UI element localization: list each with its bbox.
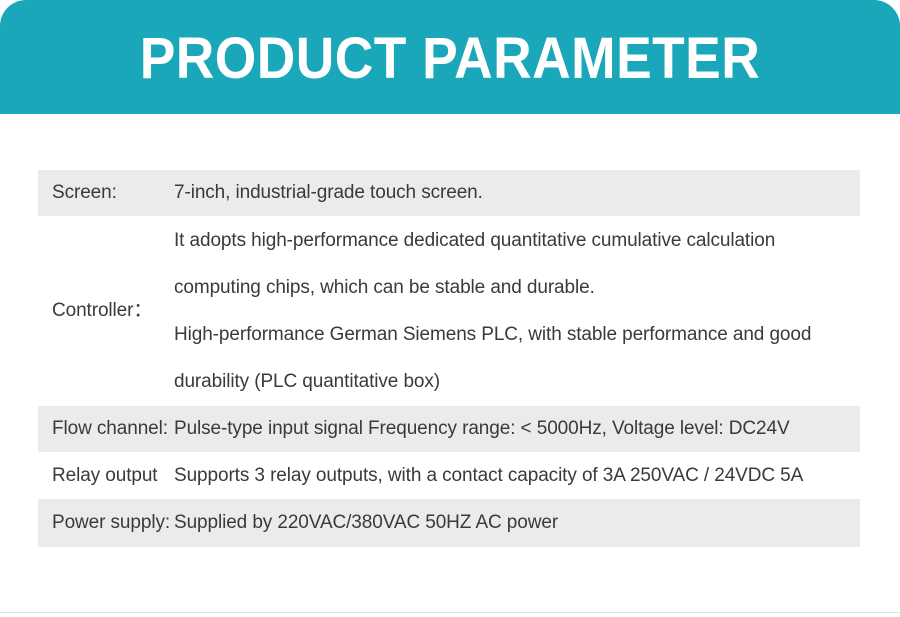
spec-label-power-supply: Power supply: <box>38 499 174 547</box>
spec-value-power-supply: Supplied by 220VAC/380VAC 50HZ AC power <box>174 499 860 547</box>
spec-value-line: Supplied by 220VAC/380VAC 50HZ AC power <box>174 511 860 535</box>
product-parameter-banner: PRODUCT PARAMETER <box>0 0 900 114</box>
table-row: Relay output Supports 3 relay outputs, w… <box>38 452 860 499</box>
spec-value-line: It adopts high-performance dedicated qua… <box>174 217 860 264</box>
bottom-divider <box>0 612 900 613</box>
table-row: Flow channel: Pulse-type input signal Fr… <box>38 406 860 452</box>
page-title: PRODUCT PARAMETER <box>36 28 864 90</box>
spec-value-line: Supports 3 relay outputs, with a contact… <box>174 464 860 488</box>
table-row: Controller： It adopts high-performance d… <box>38 216 860 406</box>
spec-value-line: 7-inch, industrial-grade touch screen. <box>174 181 860 205</box>
spec-label-relay-output: Relay output <box>38 452 174 499</box>
spec-value-line: computing chips, which can be stable and… <box>174 264 860 311</box>
product-parameter-table: Screen: 7-inch, industrial-grade touch s… <box>38 170 860 547</box>
spec-label-flow-channel: Flow channel: <box>38 406 174 452</box>
spec-value-screen: 7-inch, industrial-grade touch screen. <box>174 170 860 216</box>
table-row: Screen: 7-inch, industrial-grade touch s… <box>38 170 860 216</box>
spec-value-controller: It adopts high-performance dedicated qua… <box>174 216 860 406</box>
spec-value-line: High-performance German Siemens PLC, wit… <box>174 311 860 358</box>
spec-value-line: Pulse-type input signal Frequency range:… <box>174 417 860 441</box>
spec-label-controller: Controller： <box>38 216 174 406</box>
table-row: Power supply: Supplied by 220VAC/380VAC … <box>38 499 860 547</box>
spec-label-screen: Screen: <box>38 170 174 216</box>
spec-value-line: durability (PLC quantitative box) <box>174 358 860 405</box>
spec-value-relay-output: Supports 3 relay outputs, with a contact… <box>174 452 860 499</box>
spec-value-flow-channel: Pulse-type input signal Frequency range:… <box>174 406 860 452</box>
